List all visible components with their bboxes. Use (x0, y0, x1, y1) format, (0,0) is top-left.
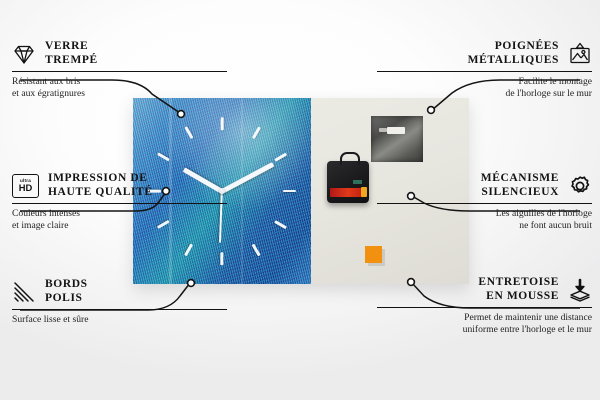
ultra-hd-icon: ultra HD (12, 174, 39, 198)
feature-subtitle: Surface lisse et sûre (12, 314, 227, 326)
feature-divider (377, 307, 592, 308)
feature-header: VERRE TREMPÉ (12, 40, 227, 67)
feature-title-line2: TREMPÉ (45, 54, 98, 68)
feature-title-line2: SILENCIEUX (481, 186, 559, 200)
infographic-canvas: VERRE TREMPÉ Résistant aux bris et aux é… (0, 0, 600, 400)
feature-poignees-metalliques: POIGNÉES MÉTALLIQUES Facilite le montage… (377, 40, 592, 100)
feature-divider (377, 203, 592, 204)
battery (330, 188, 363, 197)
clock-tick (184, 243, 193, 256)
diamond-icon (12, 42, 36, 66)
feature-title-line1: IMPRESSION DE (48, 172, 153, 186)
feature-subtitle-line2: de l'horloge sur le mur (377, 88, 592, 100)
bracket-slot-secondary (379, 128, 387, 132)
feature-subtitle-line1: Surface lisse et sûre (12, 314, 227, 326)
feature-subtitle: Couleurs intenses et image claire (12, 208, 227, 231)
feature-subtitle-line2: et image claire (12, 220, 227, 232)
mechanism-hook (340, 152, 360, 165)
clock-tick (274, 153, 287, 162)
feature-verre-trempe: VERRE TREMPÉ Résistant aux bris et aux é… (12, 40, 227, 100)
feature-subtitle-line2: et aux égratignures (12, 88, 227, 100)
feature-subtitle-line1: Couleurs intenses (12, 208, 227, 220)
feature-title-line2: MÉTALLIQUES (468, 54, 559, 68)
feature-subtitle: Les aiguilles de l'horloge ne font aucun… (377, 208, 592, 231)
feature-subtitle: Résistant aux bris et aux égratignures (12, 76, 227, 99)
battery-terminal (361, 187, 367, 197)
feature-title-line1: VERRE (45, 40, 98, 54)
feature-header: ultra HD IMPRESSION DE HAUTE QUALITÉ (12, 172, 227, 199)
feature-bords-polis: BORDS POLIS Surface lisse et sûre (12, 278, 227, 326)
clock-tick (184, 126, 193, 139)
feature-subtitle-line2: ne font aucun bruit (377, 220, 592, 232)
clock-minute-hand (221, 162, 275, 194)
feature-title: MÉCANISME SILENCIEUX (481, 172, 559, 199)
feature-title: POIGNÉES MÉTALLIQUES (468, 40, 559, 67)
arrow-down-layers-icon (568, 278, 592, 302)
feature-subtitle-line1: Facilite le montage (377, 76, 592, 88)
feature-title-line1: ENTRETOISE (478, 276, 559, 290)
feature-divider (12, 203, 227, 204)
feature-header: ENTRETOISE EN MOUSSE (377, 276, 592, 303)
feature-divider (12, 71, 227, 72)
clock-mechanism (327, 161, 369, 203)
feature-subtitle-line1: Résistant aux bris (12, 76, 227, 88)
feature-title-line1: BORDS (45, 278, 88, 292)
feature-header: MÉCANISME SILENCIEUX (377, 172, 592, 199)
feature-impression-haute-qualite: ultra HD IMPRESSION DE HAUTE QUALITÉ Cou… (12, 172, 227, 232)
feature-entretoise-en-mousse: ENTRETOISE EN MOUSSE Permet de maintenir… (377, 276, 592, 336)
gear-icon (568, 174, 592, 198)
diagonal-lines-icon (12, 280, 36, 304)
metal-hanger-bracket (371, 116, 423, 162)
foam-spacer (365, 246, 382, 263)
feature-title-line2: POLIS (45, 292, 88, 306)
picture-frame-hanger-icon (568, 42, 592, 66)
feature-title-line2: EN MOUSSE (478, 290, 559, 304)
feature-header: BORDS POLIS (12, 278, 227, 305)
feature-title: VERRE TREMPÉ (45, 40, 98, 67)
clock-tick (283, 190, 296, 193)
feature-title: ENTRETOISE EN MOUSSE (478, 276, 559, 303)
feature-subtitle-line1: Les aiguilles de l'horloge (377, 208, 592, 220)
mechanism-chip (353, 180, 362, 184)
feature-title-line2: HAUTE QUALITÉ (48, 186, 153, 200)
feature-subtitle-line2: uniforme entre l'horloge et le mur (377, 324, 592, 336)
feature-mecanisme-silencieux: MÉCANISME SILENCIEUX Les aiguilles de l'… (377, 172, 592, 232)
feature-divider (377, 71, 592, 72)
bracket-slot (387, 127, 405, 134)
clock-tick (221, 117, 224, 130)
clock-tick (251, 243, 260, 256)
feature-title: IMPRESSION DE HAUTE QUALITÉ (48, 172, 153, 199)
clock-tick (157, 153, 170, 162)
feature-title: BORDS POLIS (45, 278, 88, 305)
clock-tick (274, 220, 287, 229)
clock-tick (221, 252, 224, 265)
feature-subtitle: Permet de maintenir une distance uniform… (377, 312, 592, 335)
ultra-hd-main-label: HD (19, 183, 33, 193)
feature-subtitle-line1: Permet de maintenir une distance (377, 312, 592, 324)
feature-subtitle: Facilite le montage de l'horloge sur le … (377, 76, 592, 99)
feature-title-line1: POIGNÉES (468, 40, 559, 54)
feature-header: POIGNÉES MÉTALLIQUES (377, 40, 592, 67)
feature-title-line1: MÉCANISME (481, 172, 559, 186)
feature-divider (12, 309, 227, 310)
clock-tick (251, 126, 260, 139)
